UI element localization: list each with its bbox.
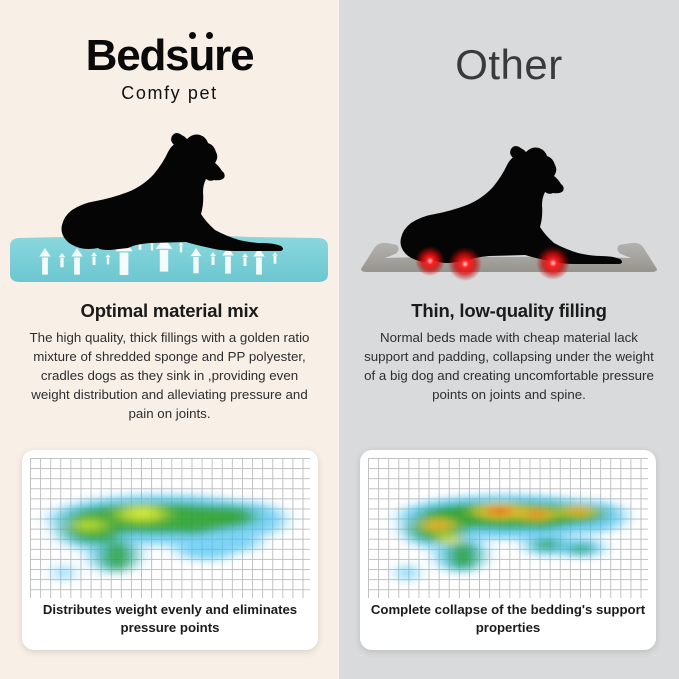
illustration-supportive-bed bbox=[0, 130, 339, 290]
pressure-map-plot-right bbox=[368, 458, 648, 598]
dog-silhouette bbox=[401, 146, 623, 264]
illustration-collapsed-bed bbox=[339, 130, 679, 290]
panel-other: Other bbox=[339, 0, 679, 679]
collapsed-bed-svg bbox=[339, 130, 679, 290]
copy-block-right: Thin, low-quality filling Normal beds ma… bbox=[353, 300, 665, 405]
comparison-infographic: Bedsure Comfy pet bbox=[0, 0, 679, 679]
pressure-point bbox=[448, 247, 482, 281]
brand-umlaut-letter: u bbox=[188, 31, 214, 80]
pressure-map-card-right: Complete collapse of the bedding's suppo… bbox=[360, 450, 656, 650]
panel-bedsure: Bedsure Comfy pet bbox=[0, 0, 339, 679]
pressure-map-plot-left bbox=[30, 458, 310, 598]
pressure-map-caption-left: Distributes weight evenly and eliminates… bbox=[22, 601, 318, 636]
left-heading: Optimal material mix bbox=[14, 300, 325, 322]
pressure-point bbox=[415, 246, 445, 276]
pressure-point bbox=[536, 246, 570, 280]
left-body-text: The high quality, thick fillings with a … bbox=[14, 329, 325, 423]
heatmap-left-svg bbox=[30, 458, 310, 598]
right-body-text: Normal beds made with cheap material lac… bbox=[353, 329, 665, 405]
right-heading: Thin, low-quality filling bbox=[353, 300, 665, 322]
supportive-bed-svg bbox=[0, 130, 339, 290]
heatmap-right-svg bbox=[368, 458, 648, 598]
other-title: Other bbox=[339, 44, 679, 86]
brand-logo: Bedsure bbox=[86, 34, 254, 78]
brand-block: Bedsure Comfy pet bbox=[0, 34, 339, 102]
mattress-shape bbox=[10, 236, 328, 282]
copy-block-left: Optimal material mix The high quality, t… bbox=[14, 300, 325, 424]
brand-umlaut-u: u bbox=[188, 34, 214, 78]
pressure-map-card-left: Distributes weight evenly and eliminates… bbox=[22, 450, 318, 650]
brand-name-part2: re bbox=[214, 31, 253, 80]
dog-silhouette bbox=[62, 133, 284, 251]
brand-tagline: Comfy pet bbox=[0, 84, 339, 102]
pressure-map-caption-right: Complete collapse of the bedding's suppo… bbox=[360, 601, 656, 636]
brand-name-part1: Beds bbox=[86, 31, 189, 80]
